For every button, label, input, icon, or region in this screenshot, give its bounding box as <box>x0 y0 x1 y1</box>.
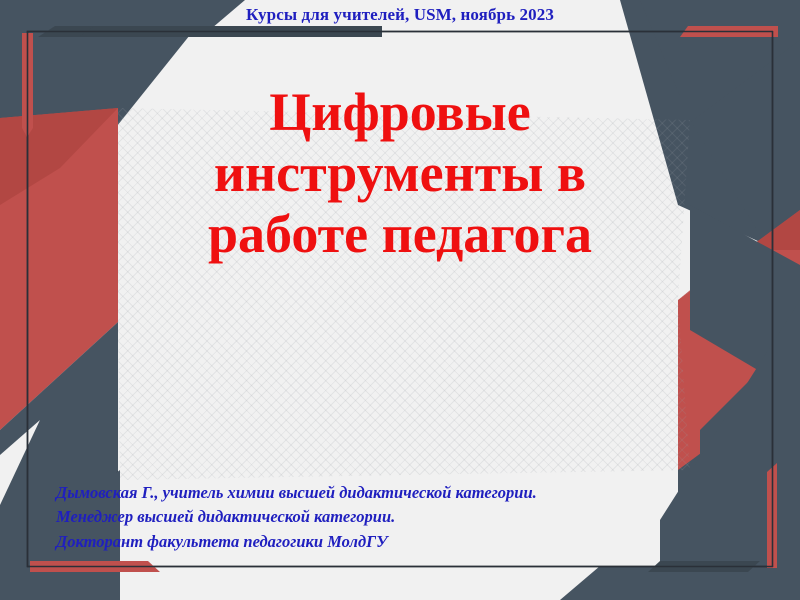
title-line-3: работе педагога <box>125 204 675 265</box>
bottom-left-red-bar <box>30 561 160 572</box>
top-right-red-bar <box>680 26 778 37</box>
title-line-1: Цифровые <box>125 82 675 143</box>
top-left-dark-bar <box>60 26 382 37</box>
slide-header-text: Курсы для учителей, USM, ноябрь 2023 <box>0 5 800 25</box>
right-red-wedge <box>678 210 800 600</box>
left-light-notch <box>0 420 40 505</box>
bottom-right-dark-bar <box>648 561 760 572</box>
right-slate-lower <box>678 380 800 600</box>
slide-title: Цифровые инструменты в работе педагога <box>125 82 675 265</box>
author-credits: Дымовская Г., учитель химии высшей дидак… <box>56 481 537 554</box>
right-slate-mid <box>690 205 800 395</box>
bottom-right-diagonal-block <box>560 566 800 600</box>
credit-line-3: Докторант факультета педагогики МолдГУ <box>56 530 537 554</box>
credit-line-2: Менеджер высшей дидактической категории. <box>56 505 537 529</box>
right-slate-lower-big <box>660 300 800 600</box>
slide-canvas: Курсы для учителей, USM, ноябрь 2023 Циф… <box>0 0 800 600</box>
left-slate-lower <box>0 322 118 600</box>
top-left-dark-bar-tail <box>38 26 95 37</box>
left-red-vertical-bar <box>22 33 33 137</box>
right-red-vertical-bar <box>767 463 777 568</box>
right-red-wedge-shadow <box>678 210 800 300</box>
right-slate-lower-b <box>700 330 800 600</box>
left-red-wedge-shadow <box>0 108 118 205</box>
credit-line-1: Дымовская Г., учитель химии высшей дидак… <box>56 481 537 505</box>
title-line-2: инструменты в <box>125 143 675 204</box>
left-red-wedge <box>0 108 118 430</box>
